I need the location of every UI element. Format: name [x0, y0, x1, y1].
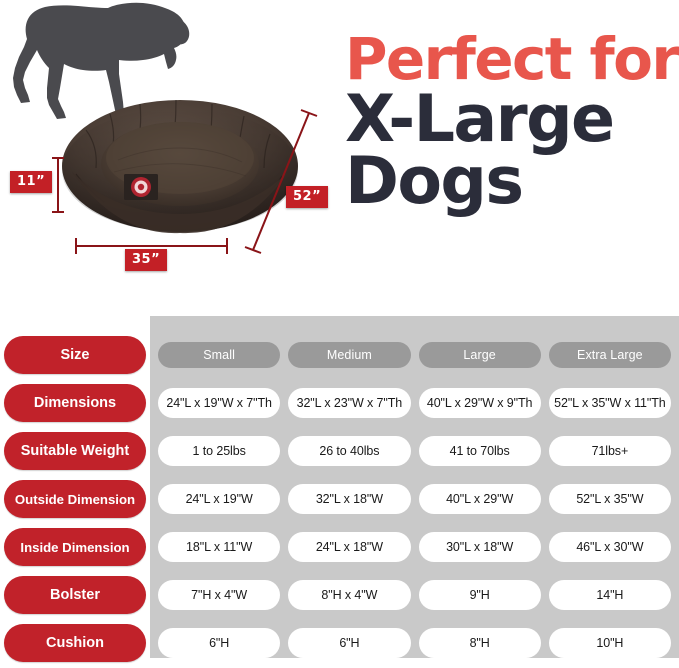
cell-bolster-extra-large: 14"H: [549, 580, 671, 610]
page-title: Perfect for X-Large Dogs: [345, 33, 679, 212]
cell-bolster-large: 9"H: [419, 580, 541, 610]
row-label-column: Size Dimensions Suitable Weight Outside …: [2, 316, 148, 658]
cell-inside-extra-large: 46"L x 30"W: [549, 532, 671, 562]
cell-weight-large: 41 to 70lbs: [419, 436, 541, 466]
cell-outside-medium: 32"L x 18"W: [288, 484, 410, 514]
row-label-outside-dimension: Outside Dimension: [4, 480, 146, 518]
column-header-extra-large: Extra Large: [549, 342, 671, 368]
table-row-suitable-weight: 1 to 25lbs 26 to 40lbs 41 to 70lbs 71lbs…: [158, 436, 671, 466]
table-row-inside-dimension: 18"L x 11"W 24"L x 18"W 30"L x 18"W 46"L…: [158, 532, 671, 562]
column-header-large: Large: [419, 342, 541, 368]
cell-cushion-large: 8"H: [419, 628, 541, 658]
row-label-size: Size: [4, 336, 146, 374]
cell-weight-small: 1 to 25lbs: [158, 436, 280, 466]
table-row-dimensions: 24"L x 19"W x 7"Th 32"L x 23"W x 7"Th 40…: [158, 388, 671, 418]
cell-dimensions-extra-large: 52"L x 35"W x 11"Th: [549, 388, 671, 418]
cell-dimensions-medium: 32"L x 23"W x 7"Th: [288, 388, 410, 418]
headline-line-3: Dogs: [345, 152, 679, 212]
row-label-cushion: Cushion: [4, 624, 146, 662]
cell-inside-large: 30"L x 18"W: [419, 532, 541, 562]
cell-dimensions-large: 40"L x 29"W x 9"Th: [419, 388, 541, 418]
cell-outside-extra-large: 52"L x 35"W: [549, 484, 671, 514]
cell-weight-medium: 26 to 40lbs: [288, 436, 410, 466]
cell-cushion-extra-large: 10"H: [549, 628, 671, 658]
table-row-bolster: 7"H x 4"W 8"H x 4"W 9"H 14"H: [158, 580, 671, 610]
headline-line-2: X-Large: [345, 90, 679, 150]
column-header-medium: Medium: [288, 342, 410, 368]
cell-cushion-small: 6"H: [158, 628, 280, 658]
cell-weight-extra-large: 71lbs+: [549, 436, 671, 466]
measurement-badge-width: 35”: [125, 249, 167, 271]
measurement-badge-height: 11”: [10, 171, 52, 193]
row-label-inside-dimension: Inside Dimension: [4, 528, 146, 566]
brand-tag-icon: [124, 174, 158, 200]
row-label-suitable-weight: Suitable Weight: [4, 432, 146, 470]
dog-bed-photo: [58, 86, 302, 238]
headline-line-1: Perfect for: [345, 33, 679, 86]
row-label-dimensions: Dimensions: [4, 384, 146, 422]
cell-bolster-small: 7"H x 4"W: [158, 580, 280, 610]
row-label-bolster: Bolster: [4, 576, 146, 614]
cell-cushion-medium: 6"H: [288, 628, 410, 658]
table-header-row: Small Medium Large Extra Large: [158, 342, 671, 368]
cell-outside-large: 40"L x 29"W: [419, 484, 541, 514]
cell-outside-small: 24"L x 19"W: [158, 484, 280, 514]
cell-inside-medium: 24"L x 18"W: [288, 532, 410, 562]
size-comparison-table: Size Dimensions Suitable Weight Outside …: [0, 316, 679, 668]
table-row-cushion: 6"H 6"H 8"H 10"H: [158, 628, 671, 658]
cell-dimensions-small: 24"L x 19"W x 7"Th: [158, 388, 280, 418]
column-header-small: Small: [158, 342, 280, 368]
table-row-outside-dimension: 24"L x 19"W 32"L x 18"W 40"L x 29"W 52"L…: [158, 484, 671, 514]
cell-bolster-medium: 8"H x 4"W: [288, 580, 410, 610]
cell-inside-small: 18"L x 11"W: [158, 532, 280, 562]
measurement-badge-diagonal: 52”: [286, 186, 328, 208]
hero-section: 11” 52” 35” Perfect for X-Large Dogs: [0, 0, 679, 312]
